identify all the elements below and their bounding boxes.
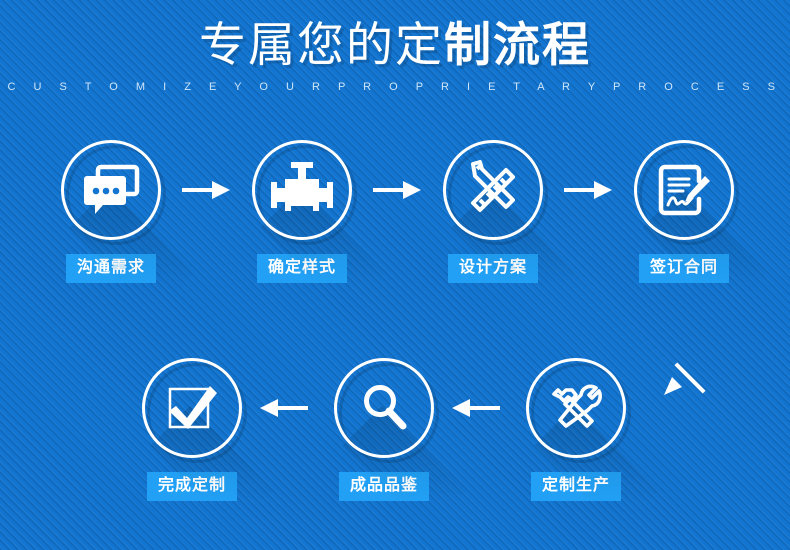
arrow-left-1-icon bbox=[450, 394, 502, 422]
arrow-right-1-icon bbox=[180, 176, 232, 204]
step-3-label: 设计方案 bbox=[448, 254, 538, 283]
chat-bubbles-icon bbox=[61, 140, 161, 240]
step-5-custom-production[interactable]: 定制生产 bbox=[506, 358, 646, 501]
step-6-circle-wrap bbox=[334, 358, 434, 458]
step-5-label: 定制生产 bbox=[531, 472, 621, 501]
step-3-circle-wrap bbox=[443, 140, 543, 240]
contract-sign-icon bbox=[634, 140, 734, 240]
page-subtitle: C U S T O M I Z E Y O U R P R O P R I E … bbox=[0, 80, 790, 94]
magnifier-icon bbox=[334, 358, 434, 458]
arrow-right-3-icon bbox=[562, 176, 614, 204]
step-5-circle-wrap bbox=[526, 358, 626, 458]
page-title-bold: 制流程 bbox=[444, 18, 591, 71]
step-1-communicate-requirements[interactable]: 沟通需求 bbox=[41, 140, 181, 283]
arrow-right-2-icon bbox=[371, 176, 423, 204]
hammer-wrench-icon bbox=[526, 358, 626, 458]
step-4-label: 签订合同 bbox=[639, 254, 729, 283]
arrow-left-2-icon bbox=[258, 394, 310, 422]
step-6-product-appraisal[interactable]: 成品品鉴 bbox=[314, 358, 454, 501]
step-2-confirm-style[interactable]: 确定样式 bbox=[232, 140, 372, 283]
pencil-ruler-icon bbox=[443, 140, 543, 240]
step-2-circle-wrap bbox=[252, 140, 352, 240]
page-title-light: 专属您的定 bbox=[199, 18, 444, 71]
step-2-label: 确定样式 bbox=[257, 254, 347, 283]
title-block: 专属您的定制流程 C U S T O M I Z E Y O U R P R O… bbox=[0, 16, 790, 94]
step-4-circle-wrap bbox=[634, 140, 734, 240]
page-title: 专属您的定制流程 bbox=[0, 16, 790, 74]
step-4-sign-contract[interactable]: 签订合同 bbox=[614, 140, 754, 283]
step-3-design-plan[interactable]: 设计方案 bbox=[423, 140, 563, 283]
step-1-circle-wrap bbox=[61, 140, 161, 240]
step-7-circle-wrap bbox=[142, 358, 242, 458]
step-6-label: 成品品鉴 bbox=[339, 472, 429, 501]
arrow-diagonal-down-left-icon bbox=[660, 352, 712, 404]
step-1-label: 沟通需求 bbox=[66, 254, 156, 283]
customization-process-banner: 专属您的定制流程 C U S T O M I Z E Y O U R P R O… bbox=[0, 0, 790, 550]
step-7-label: 完成定制 bbox=[147, 472, 237, 501]
step-7-complete-customization[interactable]: 完成定制 bbox=[122, 358, 262, 501]
checkbox-check-icon bbox=[142, 358, 242, 458]
valve-icon bbox=[252, 140, 352, 240]
